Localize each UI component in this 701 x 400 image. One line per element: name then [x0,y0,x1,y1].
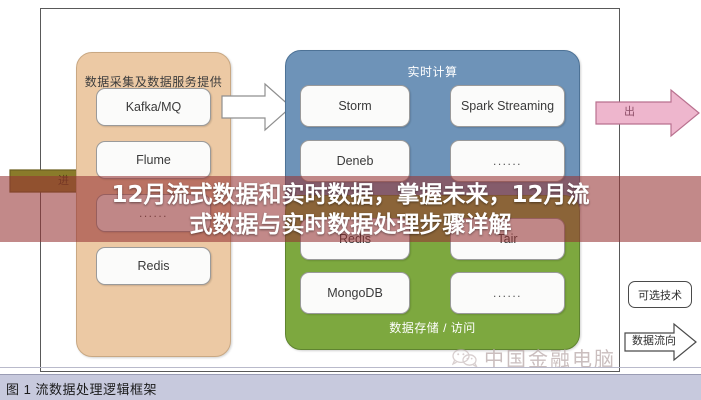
node-mongodb[interactable]: MongoDB [300,272,410,314]
node-kafka-mq[interactable]: Kafka/MQ [96,88,211,126]
title-overlay-banner [0,176,701,242]
node-flume[interactable]: Flume [96,141,211,179]
outbound-arrow-label: 出 [624,103,635,119]
node-storm[interactable]: Storm [300,85,410,127]
node-spark-streaming[interactable]: Spark Streaming [450,85,565,127]
outbound-arrow [595,88,701,143]
figure-canvas: 进 数据采集及数据服务提供 Kafka/MQ Flume ...... Redi… [0,0,701,400]
wechat-icon [452,348,478,368]
legend-optional-tech: 可选技术 [628,281,692,308]
group-realtime-compute-title: 实时计算 [286,63,579,80]
legend-data-flow-label: 数据流向 [632,332,676,348]
figure-caption: 图 1 流数据处理逻辑框架 [6,379,157,398]
node-store-more[interactable]: ...... [450,272,565,314]
caption-divider [0,367,701,368]
flow-arrow-collect-to-compute [221,82,293,137]
group-data-storage-title: 数据存储 / 访问 [286,319,579,336]
node-collect-redis[interactable]: Redis [96,247,211,285]
